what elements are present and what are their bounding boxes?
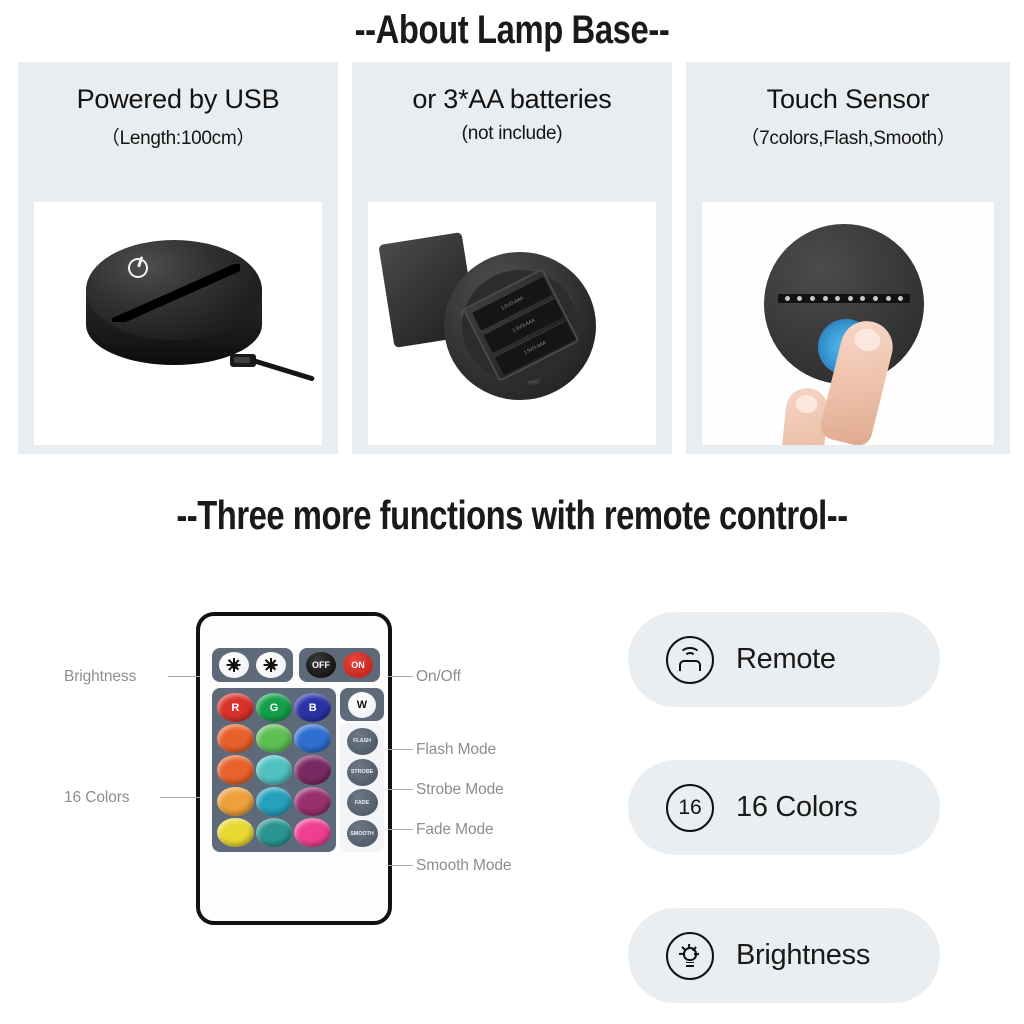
color-swatch-1[interactable]: R bbox=[217, 693, 254, 722]
pill-label: 16 Colors bbox=[736, 791, 857, 824]
leader-line bbox=[387, 676, 413, 677]
pill-brightness[interactable]: Brightness bbox=[628, 908, 940, 1003]
panel-subtitle: （7colors,Flash,Smooth） bbox=[740, 123, 955, 150]
led-dot-icon bbox=[860, 296, 865, 301]
led-dot-icon bbox=[898, 296, 903, 301]
remote-control: OFF ON RGB W FLASHSTROBEFADESMOOTH bbox=[196, 612, 392, 925]
callout-fade-mode: Fade Mode bbox=[416, 821, 494, 839]
leader-line bbox=[168, 676, 200, 677]
callout-brightness: Brightness bbox=[64, 668, 136, 686]
infographic-page: --About Lamp Base-- Powered by USB （Leng… bbox=[0, 0, 1024, 1024]
led-dot-icon bbox=[810, 296, 815, 301]
brightness-down-button[interactable] bbox=[219, 652, 249, 678]
callout-smooth-mode: Smooth Mode bbox=[416, 857, 511, 875]
feature-pill-list: Remote 16 16 Colors Brig bbox=[628, 612, 940, 1024]
callout-strobe-mode: Strobe Mode bbox=[416, 781, 504, 799]
led-dot-icon bbox=[873, 296, 878, 301]
panel-title: Touch Sensor bbox=[767, 84, 930, 115]
number-badge-icon: 16 bbox=[666, 784, 714, 832]
mode-column: W FLASHSTROBEFADESMOOTH bbox=[340, 688, 384, 852]
color-swatch-3[interactable]: B bbox=[294, 693, 331, 722]
color-swatch-4[interactable] bbox=[217, 724, 254, 753]
panel-aa-batteries: or 3*AA batteries (not include) 1.5V/3-A… bbox=[352, 62, 672, 454]
strobe-button[interactable]: STROBE bbox=[347, 759, 378, 786]
color-swatch-10[interactable] bbox=[217, 787, 254, 816]
usb-cable bbox=[230, 348, 316, 388]
on-button[interactable]: ON bbox=[343, 652, 373, 678]
lightbulb-icon bbox=[666, 932, 714, 980]
page-title-lamp-base: --About Lamp Base-- bbox=[92, 8, 932, 53]
leader-line bbox=[387, 789, 413, 790]
remote-top-row: OFF ON bbox=[212, 648, 384, 682]
color-swatch-11[interactable] bbox=[256, 787, 293, 816]
led-dot-icon bbox=[797, 296, 802, 301]
white-color-button[interactable]: W bbox=[348, 692, 376, 718]
mode-buttons: FLASHSTROBEFADESMOOTH bbox=[340, 723, 384, 852]
color-swatch-5[interactable] bbox=[256, 724, 293, 753]
color-swatch-6[interactable] bbox=[294, 724, 331, 753]
led-strip bbox=[778, 294, 910, 303]
leader-line bbox=[387, 749, 413, 750]
lamp-base-photo bbox=[34, 202, 322, 445]
battery-illustration: 1.5V/3-AAA 1.5V/3-AAA 1.5V/3-AAA bbox=[368, 202, 656, 445]
remote-signal-icon bbox=[666, 636, 714, 684]
white-button-group: W bbox=[340, 688, 384, 721]
brightness-group bbox=[212, 648, 293, 682]
color-swatch-grid: RGB bbox=[212, 688, 336, 852]
lamp-base-underside: 1.5V/3-AAA 1.5V/3-AAA 1.5V/3-AAA bbox=[444, 252, 596, 400]
color-swatch-2[interactable]: G bbox=[256, 693, 293, 722]
touch-sensor-photo bbox=[702, 202, 994, 445]
pill-16-colors[interactable]: 16 16 Colors bbox=[628, 760, 940, 855]
page-title-remote-functions: --Three more functions with remote contr… bbox=[102, 492, 921, 539]
led-dot-icon bbox=[823, 296, 828, 301]
panel-subtitle: (not include) bbox=[462, 123, 563, 145]
panel-powered-by-usb: Powered by USB （Length:100cm） bbox=[18, 62, 338, 454]
off-button[interactable]: OFF bbox=[306, 652, 336, 678]
led-dot-icon bbox=[785, 296, 790, 301]
color-swatch-14[interactable] bbox=[256, 818, 293, 847]
sun-icon bbox=[264, 658, 278, 672]
callout-flash-mode: Flash Mode bbox=[416, 741, 496, 759]
battery-compartment-photo: 1.5V/3-AAA 1.5V/3-AAA 1.5V/3-AAA bbox=[368, 202, 656, 445]
sun-icon bbox=[227, 658, 241, 672]
color-swatch-8[interactable] bbox=[256, 755, 293, 784]
brightness-up-button[interactable] bbox=[256, 652, 286, 678]
pill-label: Brightness bbox=[736, 939, 870, 972]
callout-16-colors: 16 Colors bbox=[64, 789, 129, 807]
led-dot-icon bbox=[886, 296, 891, 301]
pill-label: Remote bbox=[736, 643, 836, 676]
usb-wire bbox=[252, 358, 315, 381]
color-swatch-15[interactable] bbox=[294, 818, 331, 847]
badge-number: 16 bbox=[678, 796, 701, 820]
feature-panels: Powered by USB （Length:100cm） or 3*AA ba… bbox=[18, 62, 1010, 454]
smooth-button[interactable]: SMOOTH bbox=[347, 820, 378, 847]
battery-bay-recess: 1.5V/3-AAA 1.5V/3-AAA 1.5V/3-AAA bbox=[462, 270, 578, 382]
panel-touch-sensor: Touch Sensor （7colors,Flash,Smooth） bbox=[686, 62, 1010, 454]
pill-remote[interactable]: Remote bbox=[628, 612, 940, 707]
flash-button[interactable]: FLASH bbox=[347, 728, 378, 755]
leader-line bbox=[160, 797, 200, 798]
battery-bay: 1.5V/3-AAA 1.5V/3-AAA 1.5V/3-AAA bbox=[462, 268, 579, 382]
led-dot-icon bbox=[835, 296, 840, 301]
callout-on-off: On/Off bbox=[416, 668, 461, 686]
panel-title: Powered by USB bbox=[77, 84, 280, 115]
color-swatch-12[interactable] bbox=[294, 787, 331, 816]
fade-button[interactable]: FADE bbox=[347, 789, 378, 816]
lamp-base-illustration bbox=[34, 202, 322, 445]
color-swatch-7[interactable] bbox=[217, 755, 254, 784]
color-swatch-13[interactable] bbox=[217, 818, 254, 847]
color-swatch-9[interactable] bbox=[294, 755, 331, 784]
remote-keypad: RGB W FLASHSTROBEFADESMOOTH bbox=[212, 688, 384, 852]
leader-line bbox=[387, 865, 413, 866]
led-dot-icon bbox=[848, 296, 853, 301]
panel-subtitle: （Length:100cm） bbox=[101, 123, 255, 150]
touch-illustration bbox=[702, 202, 994, 445]
power-group: OFF ON bbox=[299, 648, 380, 682]
leader-line bbox=[387, 829, 413, 830]
panel-title: or 3*AA batteries bbox=[412, 84, 611, 115]
